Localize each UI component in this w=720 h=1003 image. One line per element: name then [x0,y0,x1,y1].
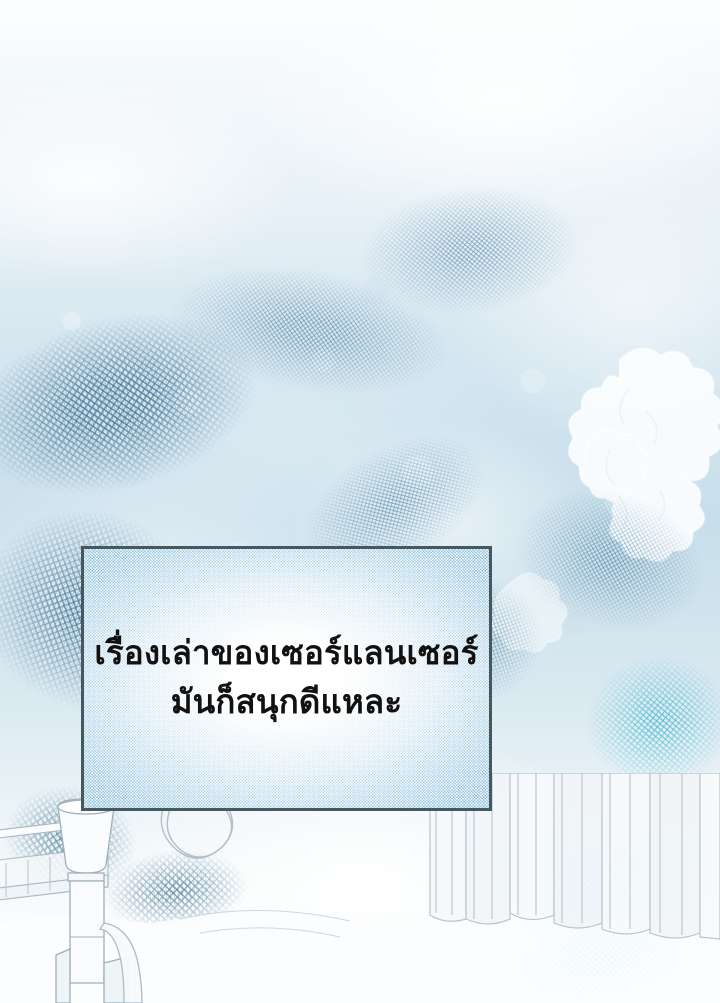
caption-text: เรื่องเล่าของเซอร์แลนเซอร์ มันก็สนุกดีแห… [84,631,489,727]
comic-panel: เรื่องเล่าของเซอร์แลนเซอร์ มันก็สนุกดีแห… [0,0,720,1003]
caption-box: เรื่องเล่าของเซอร์แลนเซอร์ มันก็สนุกดีแห… [81,546,492,811]
caption-line-1: เรื่องเล่าของเซอร์แลนเซอร์ [94,631,479,678]
crosshatch-texture-patch [311,145,628,355]
caption-line-2: มันก็สนุกดีแหละ [94,680,479,727]
